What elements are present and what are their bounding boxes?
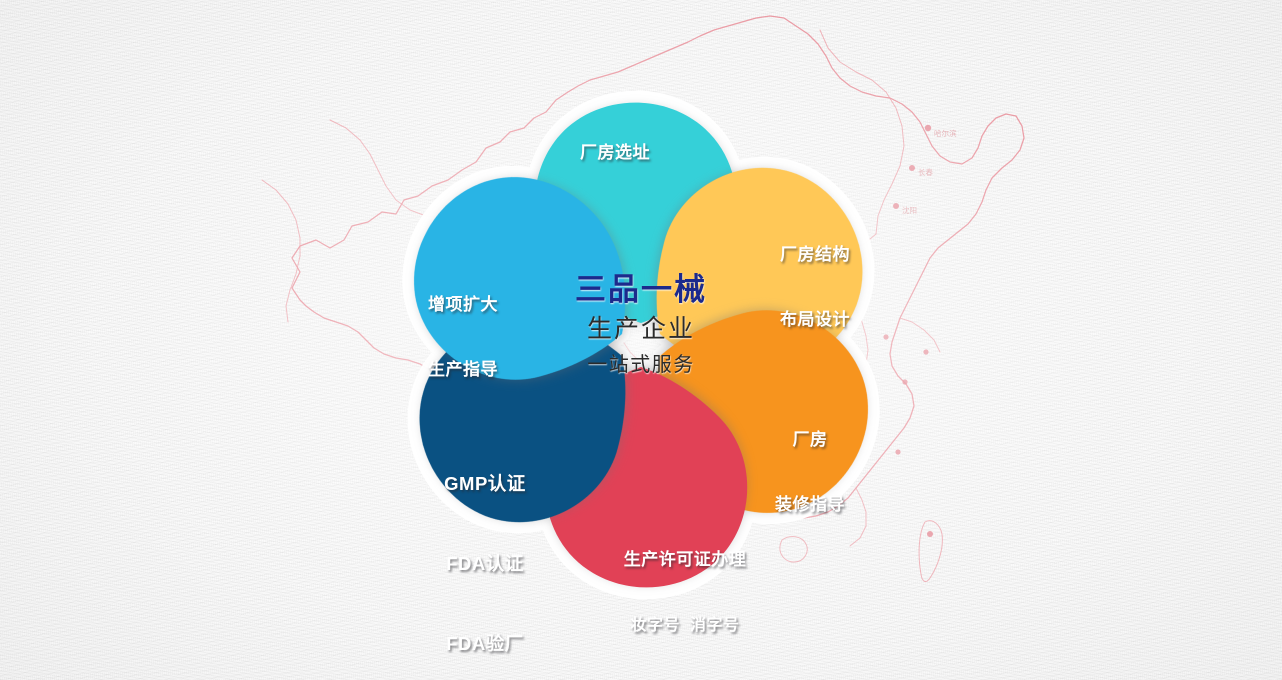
petals-group [378,103,904,588]
pinwheel-diagram [0,0,1282,680]
infographic-canvas: 哈尔滨 长春 沈阳 [0,0,1282,680]
